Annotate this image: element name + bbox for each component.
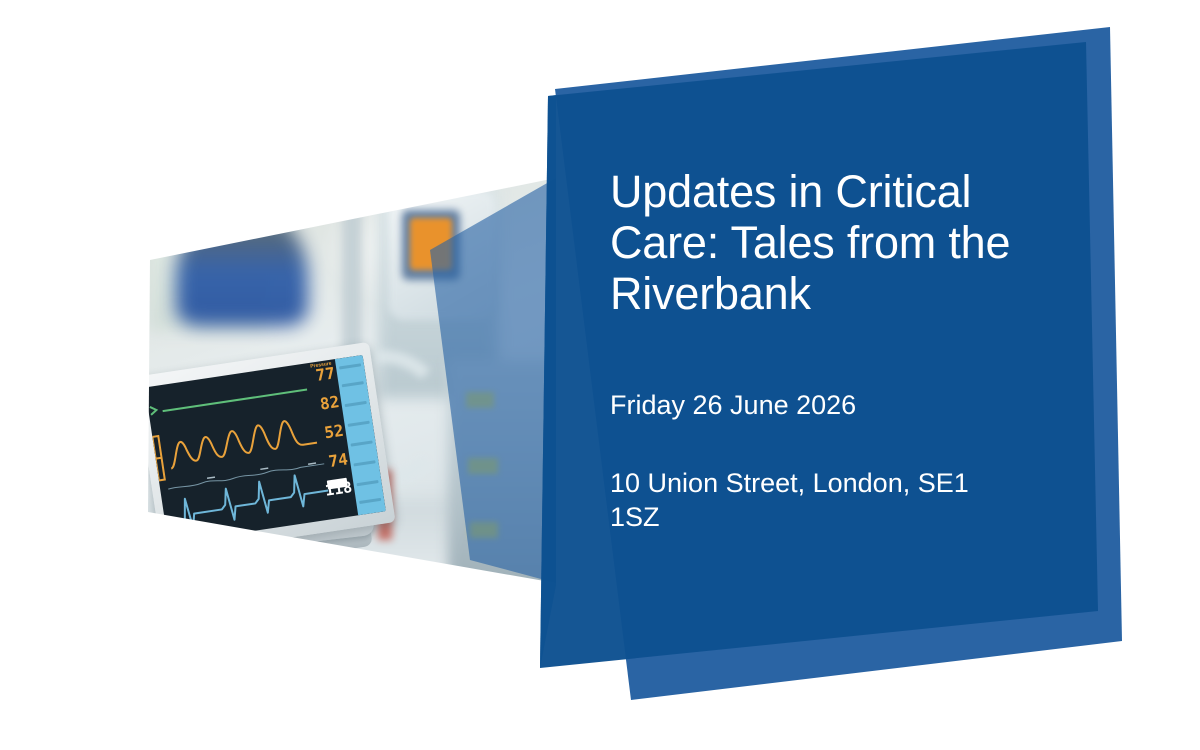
monitor-reading-3: 52 <box>299 423 345 445</box>
event-title: Updates in Critical Care: Tales from the… <box>610 166 1078 319</box>
event-date: Friday 26 June 2026 <box>610 389 1050 421</box>
monitor-screen: Pressure 77 82 52 74 118 <box>145 355 386 544</box>
photo-clinician <box>176 206 308 326</box>
monitor-reading-4: 74 <box>303 451 349 473</box>
event-address: 10 Union Street, London, SE1 1SZ <box>610 466 1010 534</box>
patient-monitor: Pressure 77 82 52 74 118 <box>135 341 400 564</box>
monitor-bezel: Pressure 77 82 52 74 118 <box>135 342 395 557</box>
slide-canvas: Pressure 77 82 52 74 118 <box>0 0 1200 750</box>
banner-text-block: Updates in Critical Care: Tales from the… <box>610 0 1080 750</box>
monitor-reading-2: 82 <box>295 394 341 416</box>
